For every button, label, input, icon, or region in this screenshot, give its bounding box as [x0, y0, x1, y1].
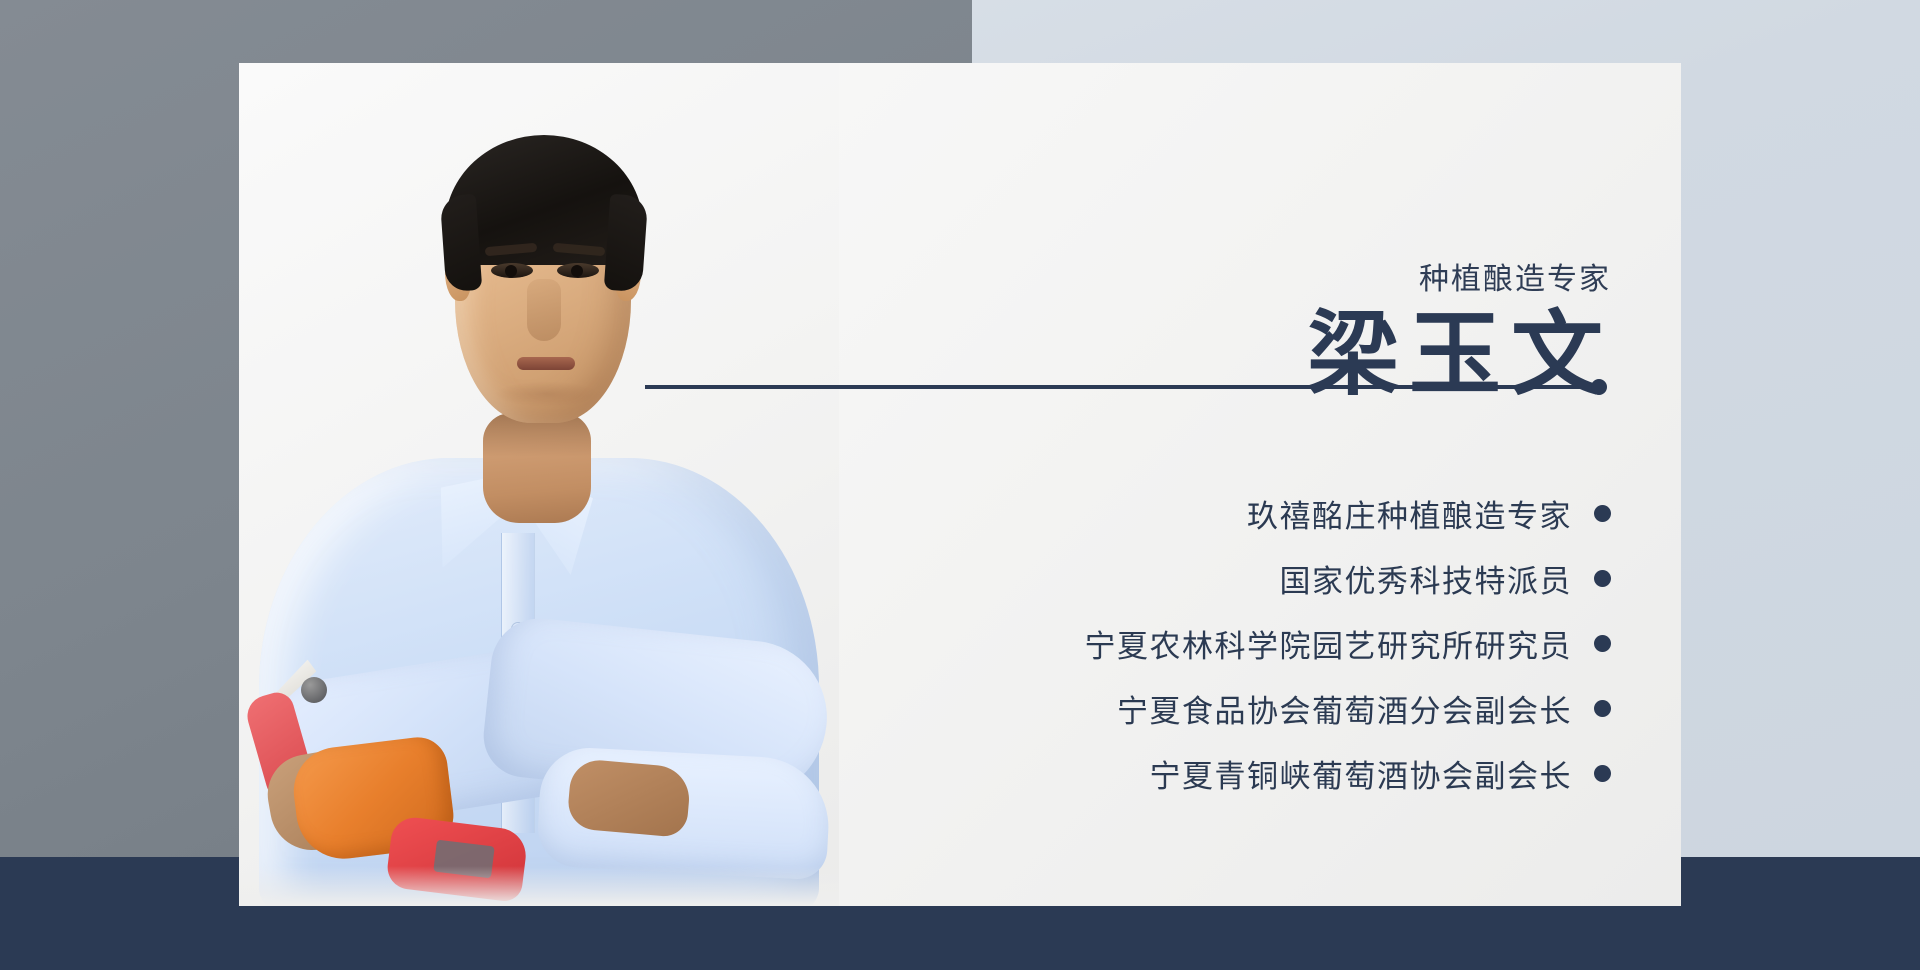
credential-text: 宁夏青铜峡葡萄酒协会副会长 [1150, 751, 1573, 796]
list-item: 国家优秀科技特派员 [731, 546, 1611, 611]
credentials-list: 玖禧酩庄种植酿造专家 国家优秀科技特派员 宁夏农林科学院园艺研究所研究员 宁夏食… [731, 481, 1611, 806]
profile-subtitle: 种植酿造专家 [239, 254, 1681, 298]
list-item: 宁夏食品协会葡萄酒分会副会长 [731, 676, 1611, 741]
credential-text: 玖禧酩庄种植酿造专家 [1247, 491, 1572, 536]
bullet-dot-icon [1594, 570, 1611, 587]
bullet-dot-icon [1594, 700, 1611, 717]
work-glove-second [566, 758, 692, 838]
credential-text: 宁夏食品协会葡萄酒分会副会长 [1117, 686, 1572, 731]
divider-line [645, 385, 1601, 389]
pruning-shear-pivot [301, 677, 327, 703]
divider-end-dot [1591, 379, 1607, 395]
portrait-bottom-fade [239, 866, 839, 906]
bullet-dot-icon [1594, 505, 1611, 522]
credential-text: 国家优秀科技特派员 [1280, 556, 1573, 601]
list-item: 宁夏青铜峡葡萄酒协会副会长 [731, 741, 1611, 806]
poster-stage: 种植酿造专家 梁玉文 玖禧酩庄种植酿造专家 国家优秀科技特派员 宁夏农林科学院园… [0, 0, 1920, 970]
bullet-dot-icon [1594, 765, 1611, 782]
profile-name: 梁玉文 [239, 307, 1681, 405]
list-item: 玖禧酩庄种植酿造专家 [731, 481, 1611, 546]
list-item: 宁夏农林科学院园艺研究所研究员 [731, 611, 1611, 676]
profile-card: 种植酿造专家 梁玉文 玖禧酩庄种植酿造专家 国家优秀科技特派员 宁夏农林科学院园… [239, 63, 1681, 906]
bullet-dot-icon [1594, 635, 1611, 652]
credential-text: 宁夏农林科学院园艺研究所研究员 [1085, 621, 1573, 666]
